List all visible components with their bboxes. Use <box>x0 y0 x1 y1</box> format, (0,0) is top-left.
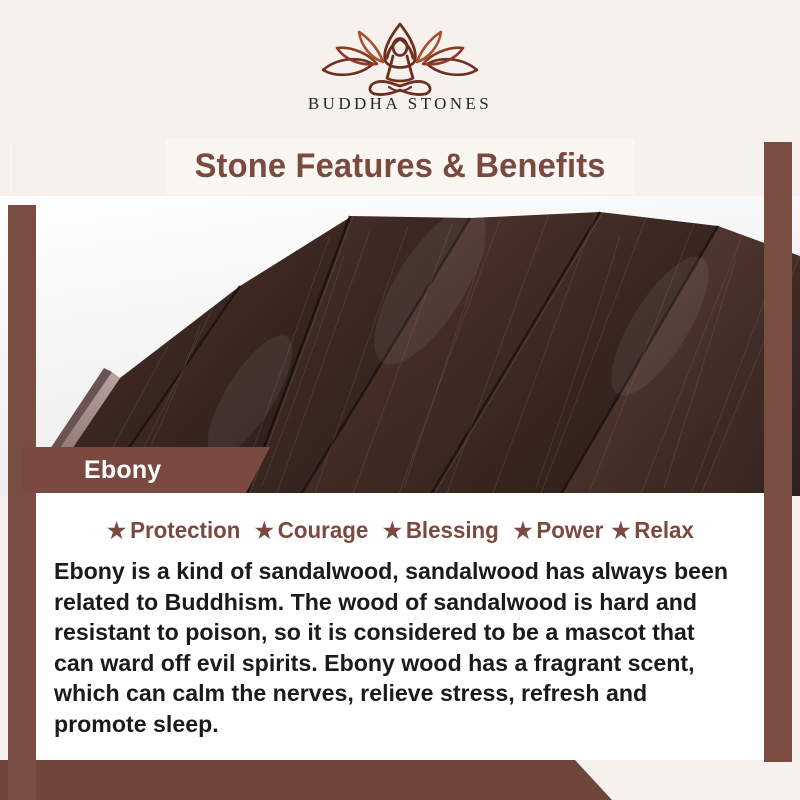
poster-root: BUDDHA STONES Stone Features & Benefits … <box>0 0 800 800</box>
lotus-meditation-icon <box>315 18 485 96</box>
star-icon: ★ <box>107 520 126 542</box>
star-icon: ★ <box>612 520 631 542</box>
benefit-label: Relax <box>635 517 695 544</box>
benefit-label: Protection <box>130 517 240 544</box>
star-icon: ★ <box>255 520 274 542</box>
benefit-label: Courage <box>278 517 368 544</box>
page-title: Stone Features & Benefits <box>194 147 605 186</box>
benefit-item-power: ★ Power <box>513 517 603 544</box>
benefit-label: Blessing <box>406 517 499 544</box>
product-label-text: Ebony <box>84 456 161 485</box>
benefits-row: ★ Protection ★ Courage ★ Blessing ★ Powe… <box>36 517 764 544</box>
frame-right-band <box>764 42 792 762</box>
frame-bottom-band <box>0 760 800 800</box>
frame-left-band <box>8 205 36 800</box>
benefit-item-blessing: ★ Blessing <box>383 517 499 544</box>
product-label-banner: Ebony <box>22 447 270 493</box>
header: BUDDHA STONES <box>0 0 800 142</box>
star-icon: ★ <box>383 520 402 542</box>
benefit-item-protection: ★ Protection <box>107 517 240 544</box>
benefit-item-courage: ★ Courage <box>255 517 369 544</box>
benefit-item-relax: ★ Relax <box>612 517 695 544</box>
content-panel: ★ Protection ★ Courage ★ Blessing ★ Powe… <box>36 493 764 760</box>
star-icon: ★ <box>513 520 532 542</box>
benefit-label: Power <box>536 517 603 544</box>
title-band: Stone Features & Benefits <box>165 139 635 194</box>
brand-name: BUDDHA STONES <box>308 94 492 114</box>
description-text: Ebony is a kind of sandalwood, sandalwoo… <box>54 556 736 739</box>
